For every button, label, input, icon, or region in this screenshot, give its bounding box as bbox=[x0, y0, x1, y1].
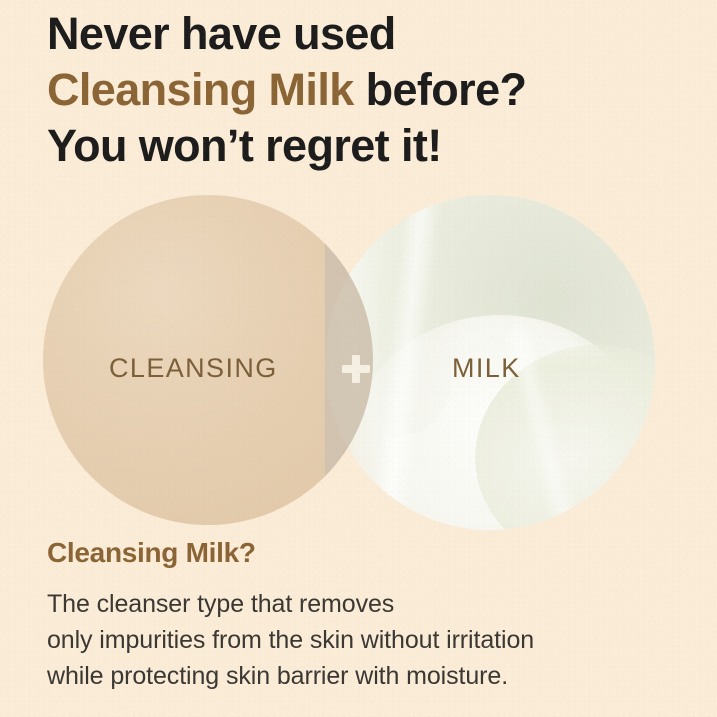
headline-text-1: Never have used bbox=[47, 8, 396, 59]
description-line-3: while protecting skin barrier with moist… bbox=[47, 658, 697, 694]
description-line-2: only impurities from the skin without ir… bbox=[47, 622, 697, 658]
headline-text-2: before? bbox=[354, 64, 527, 115]
description-block: Cleansing Milk? The cleanser type that r… bbox=[47, 534, 697, 694]
headline-line-3: You won’t regret it! bbox=[47, 118, 687, 174]
headline-block: Never have used Cleansing Milk before? Y… bbox=[47, 6, 687, 174]
description-heading: Cleansing Milk? bbox=[47, 534, 697, 572]
venn-label-cleansing: CLEANSING bbox=[109, 353, 278, 384]
headline-brand-name: Cleansing Milk bbox=[47, 64, 354, 115]
headline-line-1: Never have used bbox=[47, 6, 687, 62]
plus-icon bbox=[341, 354, 371, 384]
promo-banner: CLEANSING MILK Never have used Cleansing… bbox=[0, 0, 717, 717]
headline-line-2: Cleansing Milk before? bbox=[47, 62, 687, 118]
venn-label-milk: MILK bbox=[452, 353, 521, 384]
headline-text-3: You won’t regret it! bbox=[47, 120, 442, 171]
description-line-1: The cleanser type that removes bbox=[47, 586, 697, 622]
